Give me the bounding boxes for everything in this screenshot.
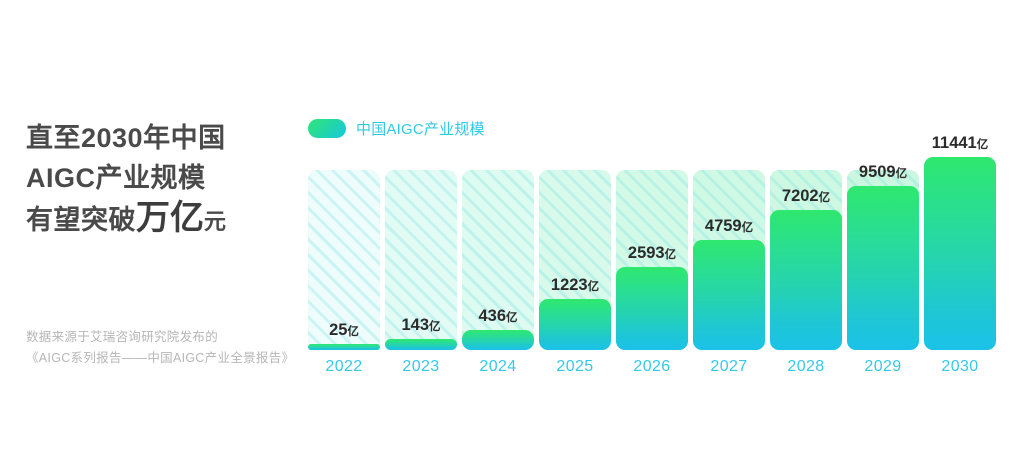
bar-fill[interactable] bbox=[924, 157, 996, 350]
bar-column-2024[interactable]: 436亿2024 bbox=[462, 170, 534, 350]
bar-column-2025[interactable]: 1223亿2025 bbox=[539, 170, 611, 350]
footnote-line-1: 数据来源于艾瑞咨询研究院发布的 bbox=[26, 327, 326, 348]
bar-value-number: 4759 bbox=[705, 217, 742, 235]
bar-value-label: 1223亿 bbox=[539, 277, 611, 294]
bar-value-label: 2593亿 bbox=[616, 245, 688, 262]
x-axis-label-2022: 2022 bbox=[308, 358, 380, 376]
headline-line-3-suffix: 元 bbox=[204, 209, 227, 234]
bar-value-unit: 亿 bbox=[742, 222, 754, 234]
bar-column-2028[interactable]: 7202亿2028 bbox=[770, 170, 842, 350]
bar-fill[interactable] bbox=[308, 344, 380, 350]
x-axis-label-2028: 2028 bbox=[770, 358, 842, 376]
bar-value-unit: 亿 bbox=[896, 168, 908, 180]
bar-value-unit: 亿 bbox=[977, 139, 989, 151]
chart-legend: 中国AIGC产业规模 bbox=[308, 118, 485, 139]
bar-value-number: 25 bbox=[329, 321, 347, 339]
bar-value-label: 4759亿 bbox=[693, 218, 765, 235]
x-axis-label-2029: 2029 bbox=[847, 358, 919, 376]
headline-block: 直至2030年中国 AIGC产业规模 有望突破万亿元 bbox=[26, 118, 288, 242]
bar-value-label: 7202亿 bbox=[770, 188, 842, 205]
bar-fill[interactable] bbox=[693, 240, 765, 350]
bar-value-unit: 亿 bbox=[588, 281, 600, 293]
x-axis-label-2024: 2024 bbox=[462, 358, 534, 376]
bar-value-unit: 亿 bbox=[429, 321, 441, 333]
x-axis-label-2027: 2027 bbox=[693, 358, 765, 376]
bar-value-label: 436亿 bbox=[462, 308, 534, 325]
bar-column-2027[interactable]: 4759亿2027 bbox=[693, 170, 765, 350]
x-axis-label-2023: 2023 bbox=[385, 358, 457, 376]
bar-fill[interactable] bbox=[539, 299, 611, 350]
bar-chart-plot: 25亿2022143亿2023436亿20241223亿20252593亿202… bbox=[308, 170, 994, 350]
bar-fill[interactable] bbox=[770, 210, 842, 350]
bar-value-number: 1223 bbox=[551, 276, 588, 294]
bar-fill[interactable] bbox=[616, 267, 688, 350]
legend-label: 中国AIGC产业规模 bbox=[356, 118, 485, 139]
headline-line-3: 有望突破万亿元 bbox=[26, 198, 288, 242]
headline-line-2: AIGC产业规模 bbox=[26, 158, 288, 198]
source-footnote: 数据来源于艾瑞咨询研究院发布的 《AIGC系列报告——中国AIGC产业全景报告》 bbox=[26, 327, 326, 369]
headline-line-3-emphasis: 万亿 bbox=[136, 199, 204, 237]
bar-value-label: 11441亿 bbox=[924, 135, 996, 152]
bar-value-number: 436 bbox=[478, 307, 506, 325]
bar-value-unit: 亿 bbox=[819, 192, 831, 204]
bar-value-number: 9509 bbox=[859, 163, 896, 181]
headline-line-3-prefix: 有望突破 bbox=[26, 205, 136, 235]
x-axis-label-2025: 2025 bbox=[539, 358, 611, 376]
bar-fill[interactable] bbox=[462, 330, 534, 350]
x-axis-label-2026: 2026 bbox=[616, 358, 688, 376]
bar-value-unit: 亿 bbox=[347, 326, 359, 338]
x-axis-label-2030: 2030 bbox=[924, 358, 996, 376]
headline-line-1: 直至2030年中国 bbox=[26, 118, 288, 158]
bar-value-number: 11441 bbox=[932, 134, 977, 152]
bar-value-number: 7202 bbox=[782, 187, 819, 205]
bar-value-unit: 亿 bbox=[506, 312, 518, 324]
bar-value-number: 2593 bbox=[628, 244, 665, 262]
bar-value-label: 25亿 bbox=[308, 322, 380, 339]
bar-column-2023[interactable]: 143亿2023 bbox=[385, 170, 457, 350]
legend-swatch-icon bbox=[308, 119, 346, 138]
bar-value-label: 9509亿 bbox=[847, 164, 919, 181]
bar-value-label: 143亿 bbox=[385, 317, 457, 334]
bar-fill[interactable] bbox=[385, 339, 457, 350]
bar-fill[interactable] bbox=[847, 186, 919, 350]
footnote-line-2: 《AIGC系列报告——中国AIGC产业全景报告》 bbox=[26, 348, 326, 369]
bar-value-unit: 亿 bbox=[665, 249, 677, 261]
infographic-canvas: 直至2030年中国 AIGC产业规模 有望突破万亿元 数据来源于艾瑞咨询研究院发… bbox=[0, 0, 1010, 450]
bar-value-number: 143 bbox=[401, 316, 429, 334]
bar-column-2029[interactable]: 9509亿2029 bbox=[847, 170, 919, 350]
bar-column-2026[interactable]: 2593亿2026 bbox=[616, 170, 688, 350]
bar-column-2030[interactable]: 11441亿2030 bbox=[924, 170, 996, 350]
bar-column-2022[interactable]: 25亿2022 bbox=[308, 170, 380, 350]
